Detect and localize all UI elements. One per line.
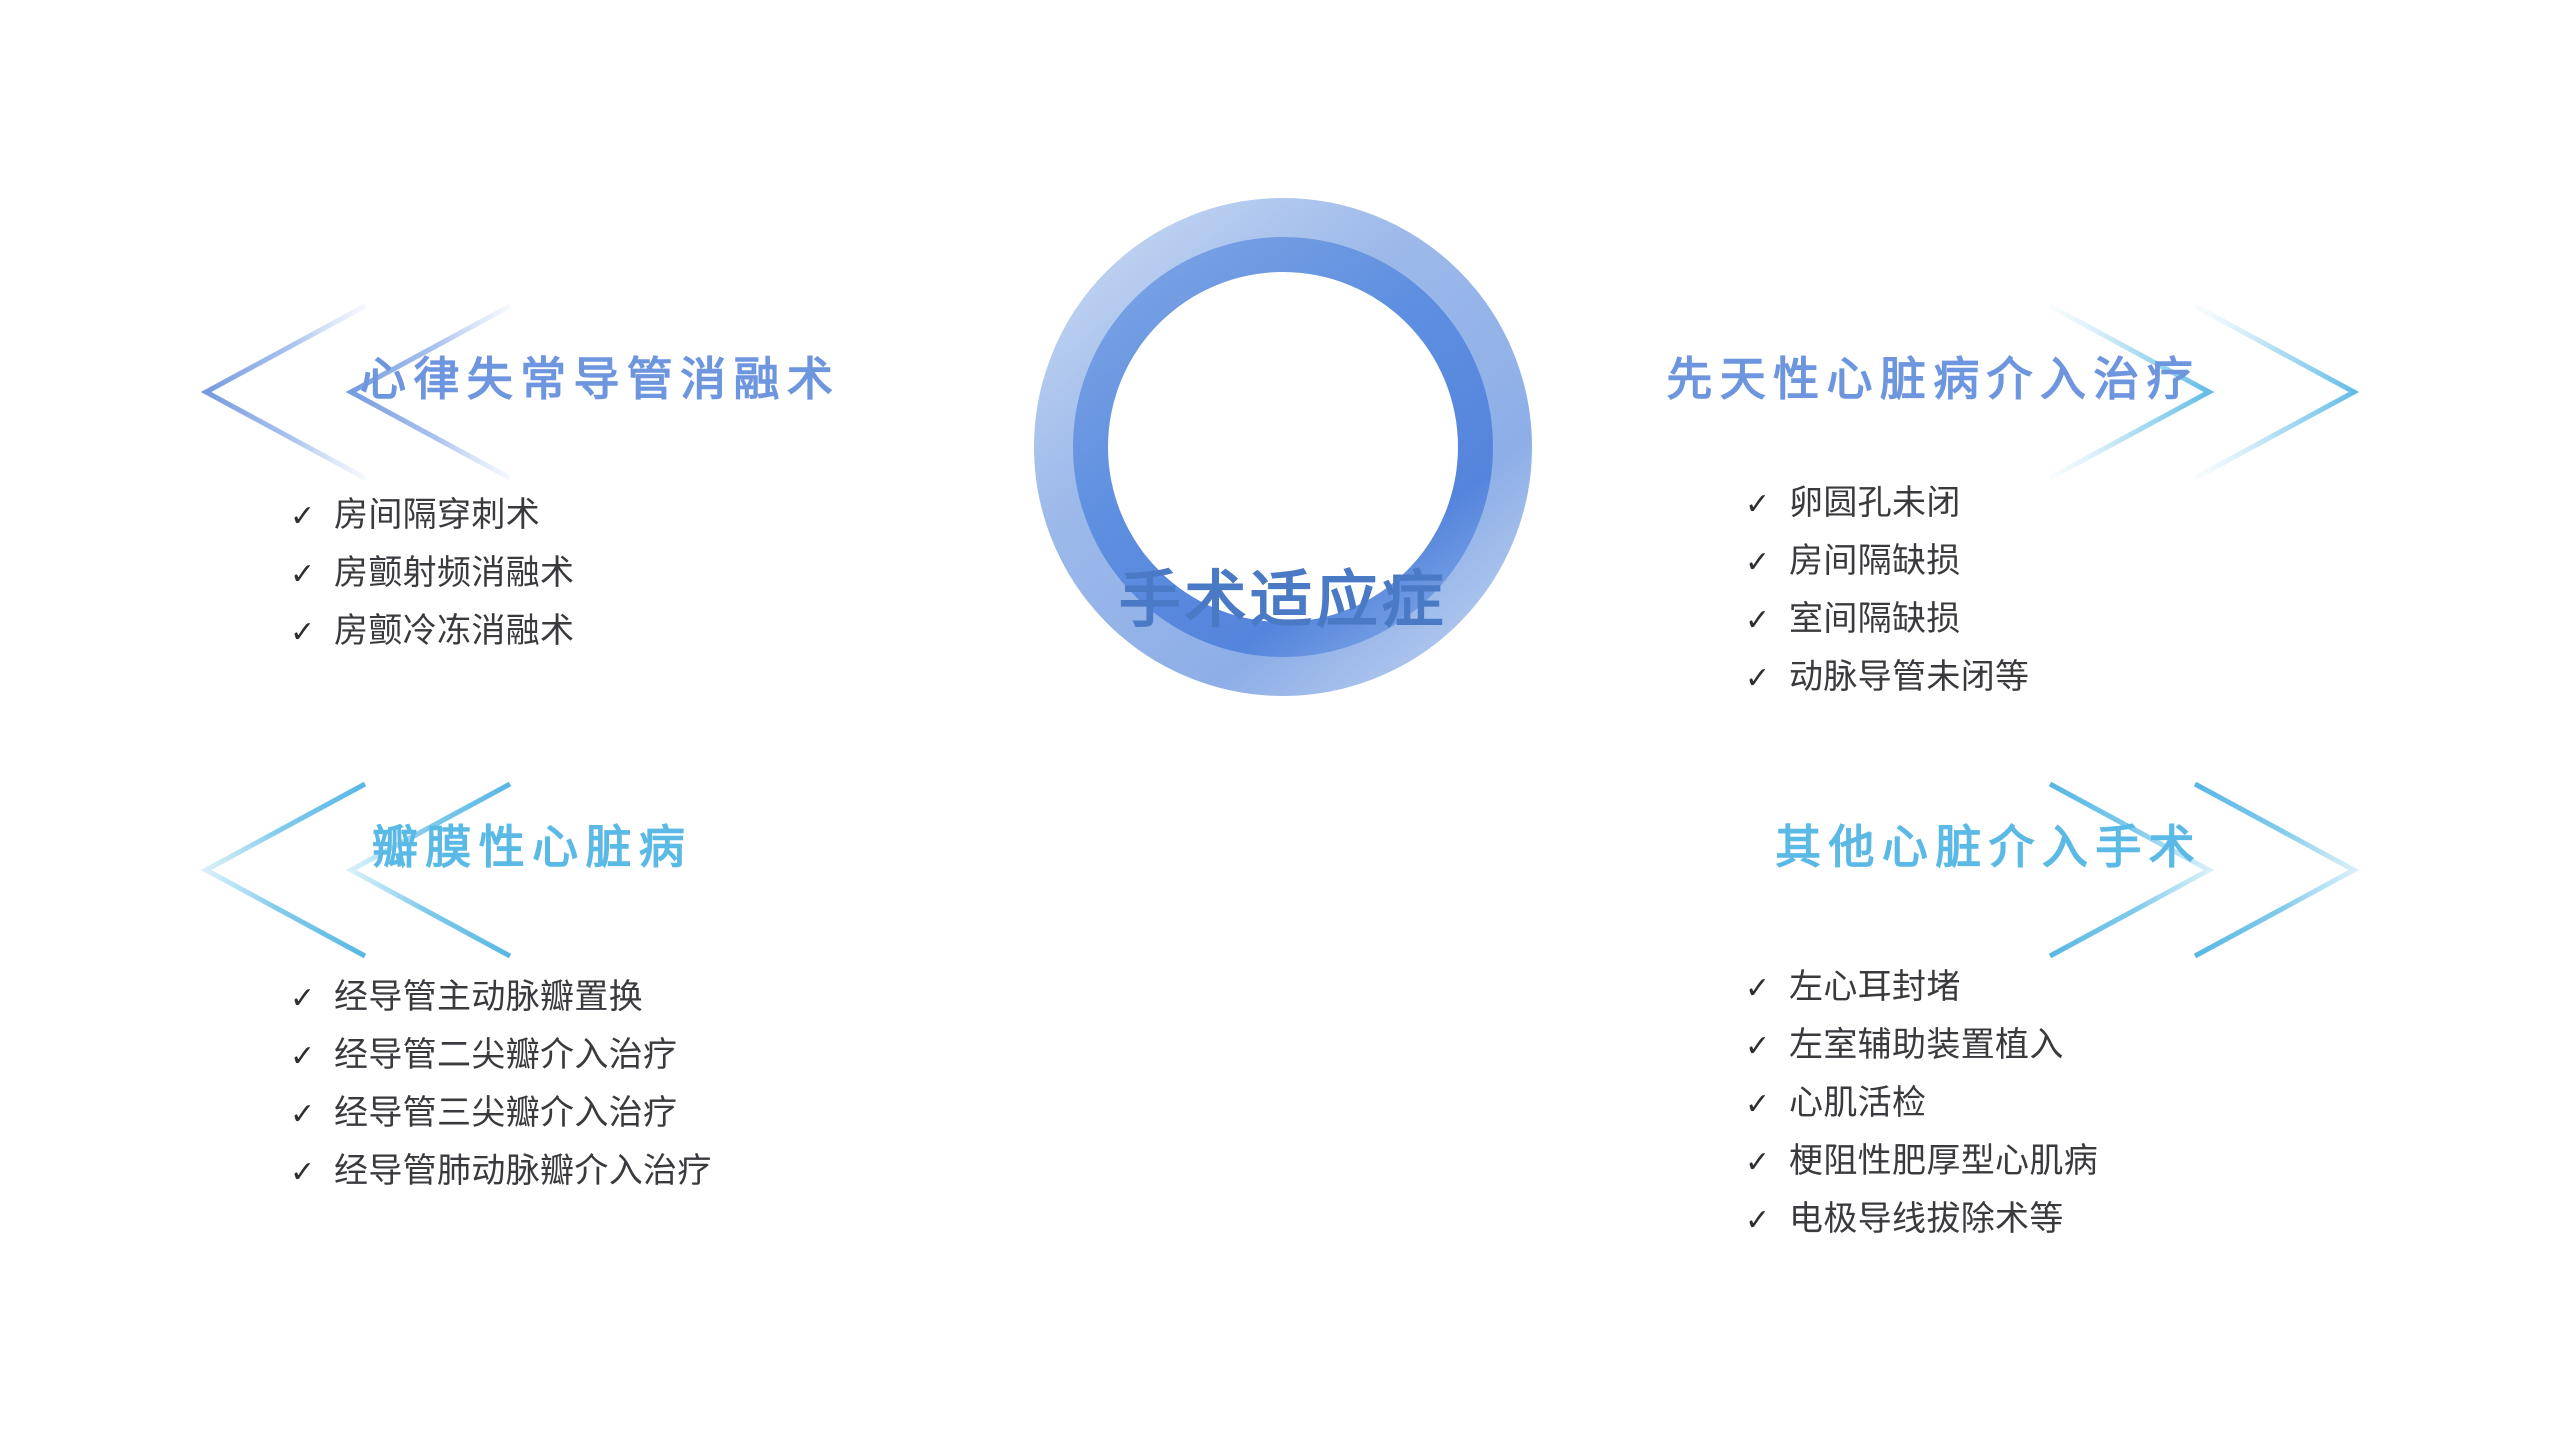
list-item-label: 左心耳封堵 [1789,968,1961,1006]
check-icon: ✓ [1745,974,1789,1004]
list-item-label: 左室辅助装置植入 [1789,1026,2064,1064]
list-top-left: ✓房间隔穿刺术✓房颤射频消融术✓房颤冷冻消融术 [290,496,574,670]
check-icon: ✓ [290,502,334,532]
check-icon: ✓ [290,1042,334,1072]
list-item-label: 电极导线拔除术等 [1789,1200,2064,1238]
list-item-label: 经导管二尖瓣介入治疗 [334,1036,677,1074]
list-item-label: 经导管主动脉瓣置换 [334,978,643,1016]
check-icon: ✓ [1745,664,1789,694]
banner-art-bottom-right [1190,778,2370,968]
list-item-label: 经导管肺动脉瓣介入治疗 [334,1152,712,1190]
list-item: ✓梗阻性肥厚型心肌病 [1745,1142,2098,1180]
list-item: ✓房间隔穿刺术 [290,496,574,534]
center-title: 手术适应症 [1033,570,1533,632]
check-icon: ✓ [290,984,334,1014]
list-top-right: ✓卵圆孔未闭✓房间隔缺损✓室间隔缺损✓动脉导管未闭等 [1745,484,2029,716]
list-item: ✓经导管三尖瓣介入治疗 [290,1094,712,1132]
banner-title-bottom-left: 瓣膜性心脏病 [372,824,692,870]
infographic-canvas: 心律失常导管消融术 先天性心脏病介入治疗 瓣膜性心脏病 其他心脏介入手术 [0,0,2560,1440]
list-item: ✓房间隔缺损 [1745,542,2029,580]
check-icon: ✓ [1745,1090,1789,1120]
check-icon: ✓ [1745,548,1789,578]
check-icon: ✓ [290,1100,334,1130]
list-item-label: 心肌活检 [1789,1084,1926,1122]
check-icon: ✓ [1745,490,1789,520]
check-icon: ✓ [290,560,334,590]
list-item: ✓心肌活检 [1745,1084,2098,1122]
check-icon: ✓ [1745,1032,1789,1062]
banner-title-bottom-right: 其他心脏介入手术 [1775,824,2202,870]
list-bottom-right: ✓左心耳封堵✓左室辅助装置植入✓心肌活检✓梗阻性肥厚型心肌病✓电极导线拔除术等 [1745,968,2098,1258]
check-icon: ✓ [290,1158,334,1188]
list-item-label: 房颤射频消融术 [334,554,574,592]
list-item: ✓经导管二尖瓣介入治疗 [290,1036,712,1074]
check-icon: ✓ [1745,606,1789,636]
list-item: ✓经导管主动脉瓣置换 [290,978,712,1016]
list-item: ✓经导管肺动脉瓣介入治疗 [290,1152,712,1190]
list-item-label: 动脉导管未闭等 [1789,658,2029,696]
banner-title-top-left: 心律失常导管消融术 [360,356,840,402]
list-item-label: 房间隔穿刺术 [334,496,540,534]
list-item-label: 房颤冷冻消融术 [334,612,574,650]
list-item: ✓动脉导管未闭等 [1745,658,2029,696]
banner-art-bottom-left [190,778,1370,968]
list-item: ✓卵圆孔未闭 [1745,484,2029,522]
list-item-label: 卵圆孔未闭 [1789,484,1961,522]
list-item: ✓室间隔缺损 [1745,600,2029,638]
banner-title-top-right: 先天性心脏病介入治疗 [1666,356,2200,402]
list-item: ✓房颤射频消融术 [290,554,574,592]
list-item-label: 经导管三尖瓣介入治疗 [334,1094,677,1132]
check-icon: ✓ [1745,1148,1789,1178]
list-item: ✓左心耳封堵 [1745,968,2098,1006]
list-item: ✓房颤冷冻消融术 [290,612,574,650]
list-item-label: 房间隔缺损 [1789,542,1961,580]
list-item-label: 梗阻性肥厚型心肌病 [1789,1142,2098,1180]
list-item: ✓左室辅助装置植入 [1745,1026,2098,1064]
list-bottom-left: ✓经导管主动脉瓣置换✓经导管二尖瓣介入治疗✓经导管三尖瓣介入治疗✓经导管肺动脉瓣… [290,978,712,1210]
list-item-label: 室间隔缺损 [1789,600,1961,638]
check-icon: ✓ [1745,1206,1789,1236]
list-item: ✓电极导线拔除术等 [1745,1200,2098,1238]
check-icon: ✓ [290,618,334,648]
